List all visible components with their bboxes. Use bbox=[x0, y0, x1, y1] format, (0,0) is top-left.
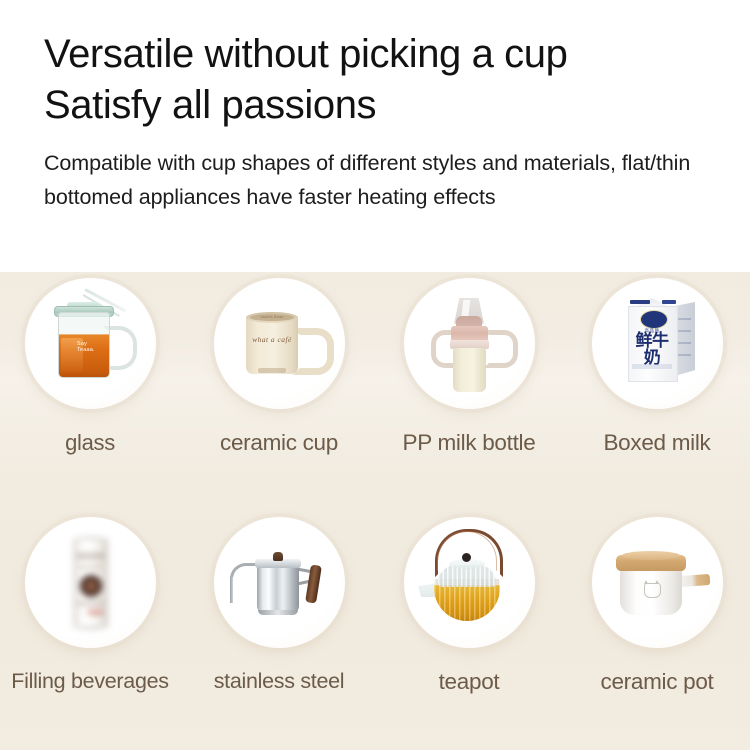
kettle-base bbox=[258, 610, 298, 615]
kettle-spout-tip bbox=[230, 577, 233, 603]
carton-footer-strip bbox=[632, 364, 672, 369]
glass-mug-icon: Say Teaaa. bbox=[25, 278, 156, 409]
stainless-kettle-icon bbox=[214, 517, 345, 648]
can-logo-inner bbox=[85, 580, 97, 592]
product-item-boxed-milk[interactable]: 高品质 鲜牛奶 Boxed milk bbox=[563, 272, 750, 511]
carton-side-panel bbox=[675, 302, 695, 376]
product-caption: ceramic cup bbox=[185, 430, 373, 456]
pp-milk-bottle-icon bbox=[404, 278, 535, 409]
carton-oval-badge bbox=[640, 310, 668, 329]
product-item-filling-beverages[interactable]: Filling beverages bbox=[0, 511, 184, 750]
pot-lid-top bbox=[622, 551, 680, 560]
product-item-glass[interactable]: Say Teaaa. glass bbox=[0, 272, 184, 511]
product-disc bbox=[404, 278, 535, 409]
teapot-finial bbox=[462, 553, 471, 562]
ceramic-mug-body bbox=[246, 316, 298, 374]
carton-side-line bbox=[678, 342, 691, 344]
product-disc: 高品质 鲜牛奶 bbox=[592, 278, 723, 409]
kettle-knob bbox=[273, 552, 283, 561]
bottle-handle-right bbox=[484, 330, 518, 368]
product-item-pp-milk-bottle[interactable]: PP milk bottle bbox=[375, 272, 563, 511]
can-band-4 bbox=[88, 610, 103, 615]
carton-side-line bbox=[678, 354, 691, 356]
product-item-ceramic-pot[interactable]: ceramic pot bbox=[563, 511, 750, 750]
carton-side-line bbox=[678, 318, 691, 320]
pot-cat-emblem bbox=[644, 583, 661, 598]
subcopy-text: Compatible with cup shapes of different … bbox=[44, 146, 710, 216]
product-disc bbox=[404, 517, 535, 648]
ceramic-pot-icon bbox=[592, 517, 723, 648]
carton-title-cn: 鲜牛奶 bbox=[628, 333, 676, 367]
glass-teapot-icon bbox=[404, 517, 535, 648]
product-disc: Vanilla Bean what a café bbox=[214, 278, 345, 409]
product-item-teapot[interactable]: teapot bbox=[375, 511, 563, 750]
product-disc bbox=[25, 517, 156, 648]
ceramic-mug-inner-text: Vanilla Bean bbox=[254, 315, 290, 319]
product-item-ceramic-cup[interactable]: Vanilla Bean what a café ceramic cup bbox=[185, 272, 373, 511]
pot-side-handle bbox=[680, 574, 711, 587]
can-band-1 bbox=[77, 553, 104, 559]
can-band-2 bbox=[79, 565, 102, 569]
product-disc bbox=[592, 517, 723, 648]
header-section: Versatile without picking a cup Satisfy … bbox=[0, 0, 750, 272]
boxed-milk-icon: 高品质 鲜牛奶 bbox=[592, 278, 723, 409]
can-band-3 bbox=[77, 601, 104, 606]
glass-print-line-2: Teaaa. bbox=[77, 347, 95, 353]
product-disc bbox=[214, 517, 345, 648]
product-row-1: Say Teaaa. glass Vanilla Bean bbox=[0, 272, 750, 511]
product-caption: Filling beverages bbox=[0, 669, 184, 694]
ceramic-mug-handle bbox=[293, 328, 334, 375]
product-feature-page: Versatile without picking a cup Satisfy … bbox=[0, 0, 750, 750]
product-row-2: Filling beverages bbox=[0, 511, 750, 750]
carton-side-line bbox=[678, 330, 691, 332]
carton-brand-mark-left bbox=[630, 300, 650, 304]
product-caption: ceramic pot bbox=[563, 669, 750, 695]
product-disc: Say Teaaa. bbox=[25, 278, 156, 409]
ceramic-mug-text: what a café bbox=[249, 335, 295, 344]
glass-print-label: Say Teaaa. bbox=[77, 342, 103, 359]
carton-brand-mark-right bbox=[662, 300, 676, 304]
ceramic-mug-foot bbox=[258, 368, 286, 373]
headline-line-2: Satisfy all passions bbox=[44, 79, 710, 132]
beverage-can-icon bbox=[25, 517, 156, 648]
product-caption: stainless steel bbox=[185, 669, 373, 694]
product-caption: teapot bbox=[375, 669, 563, 695]
headline-line-1: Versatile without picking a cup bbox=[44, 28, 710, 81]
product-item-stainless-steel[interactable]: stainless steel bbox=[185, 511, 373, 750]
ceramic-mug-icon: Vanilla Bean what a café bbox=[214, 278, 345, 409]
bottle-body bbox=[453, 348, 486, 392]
compatible-products-panel: Say Teaaa. glass Vanilla Bean bbox=[0, 272, 750, 750]
product-caption: PP milk bottle bbox=[375, 430, 563, 456]
kettle-body bbox=[257, 565, 299, 613]
product-caption: Boxed milk bbox=[563, 430, 750, 456]
product-caption: glass bbox=[0, 430, 184, 455]
